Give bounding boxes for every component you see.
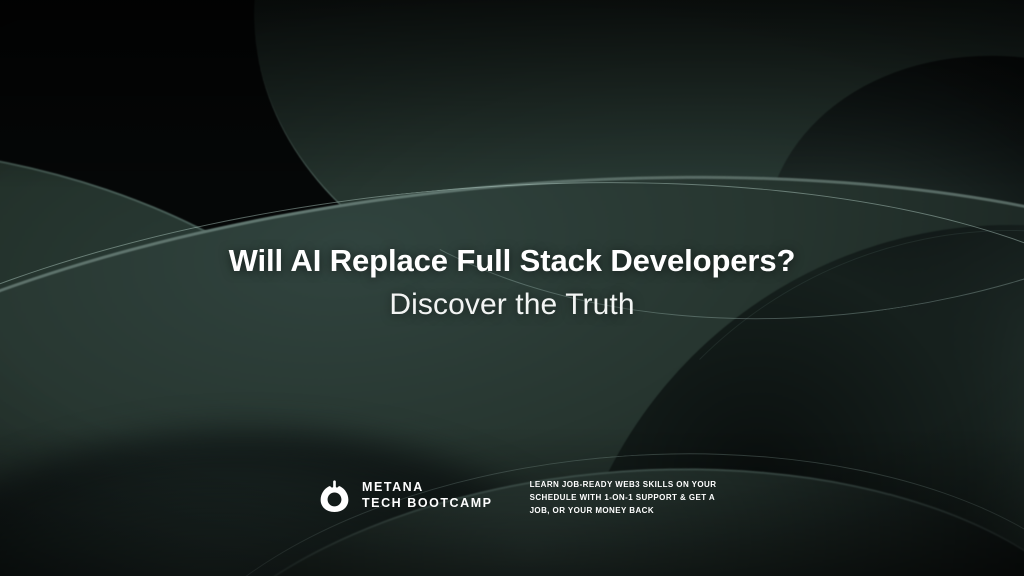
brand-lockup: METANA TECH BOOTCAMP: [318, 477, 493, 512]
slide-footer: METANA TECH BOOTCAMP LEARN JOB-READY WEB…: [318, 477, 716, 518]
promo-slide: Will AI Replace Full Stack Developers? D…: [0, 0, 1024, 576]
headline-block: Will AI Replace Full Stack Developers? D…: [0, 243, 1024, 322]
tagline-line-2: SCHEDULE WITH 1-ON-1 SUPPORT & GET A: [530, 492, 717, 505]
tagline-line-1: LEARN JOB-READY WEB3 SKILLS ON YOUR: [530, 479, 717, 492]
metana-ring-notch-icon: [318, 479, 351, 512]
brand-name: METANA TECH BOOTCAMP: [362, 479, 493, 511]
tagline-line-3: JOB, OR YOUR MONEY BACK: [530, 505, 717, 518]
slide-content: Will AI Replace Full Stack Developers? D…: [0, 0, 1024, 576]
page-subtitle: Discover the Truth: [0, 287, 1024, 322]
brand-tagline: LEARN JOB-READY WEB3 SKILLS ON YOUR SCHE…: [530, 479, 717, 518]
page-title: Will AI Replace Full Stack Developers?: [0, 243, 1024, 280]
brand-name-line-1: METANA: [362, 479, 493, 495]
brand-name-line-2: TECH BOOTCAMP: [362, 495, 493, 511]
